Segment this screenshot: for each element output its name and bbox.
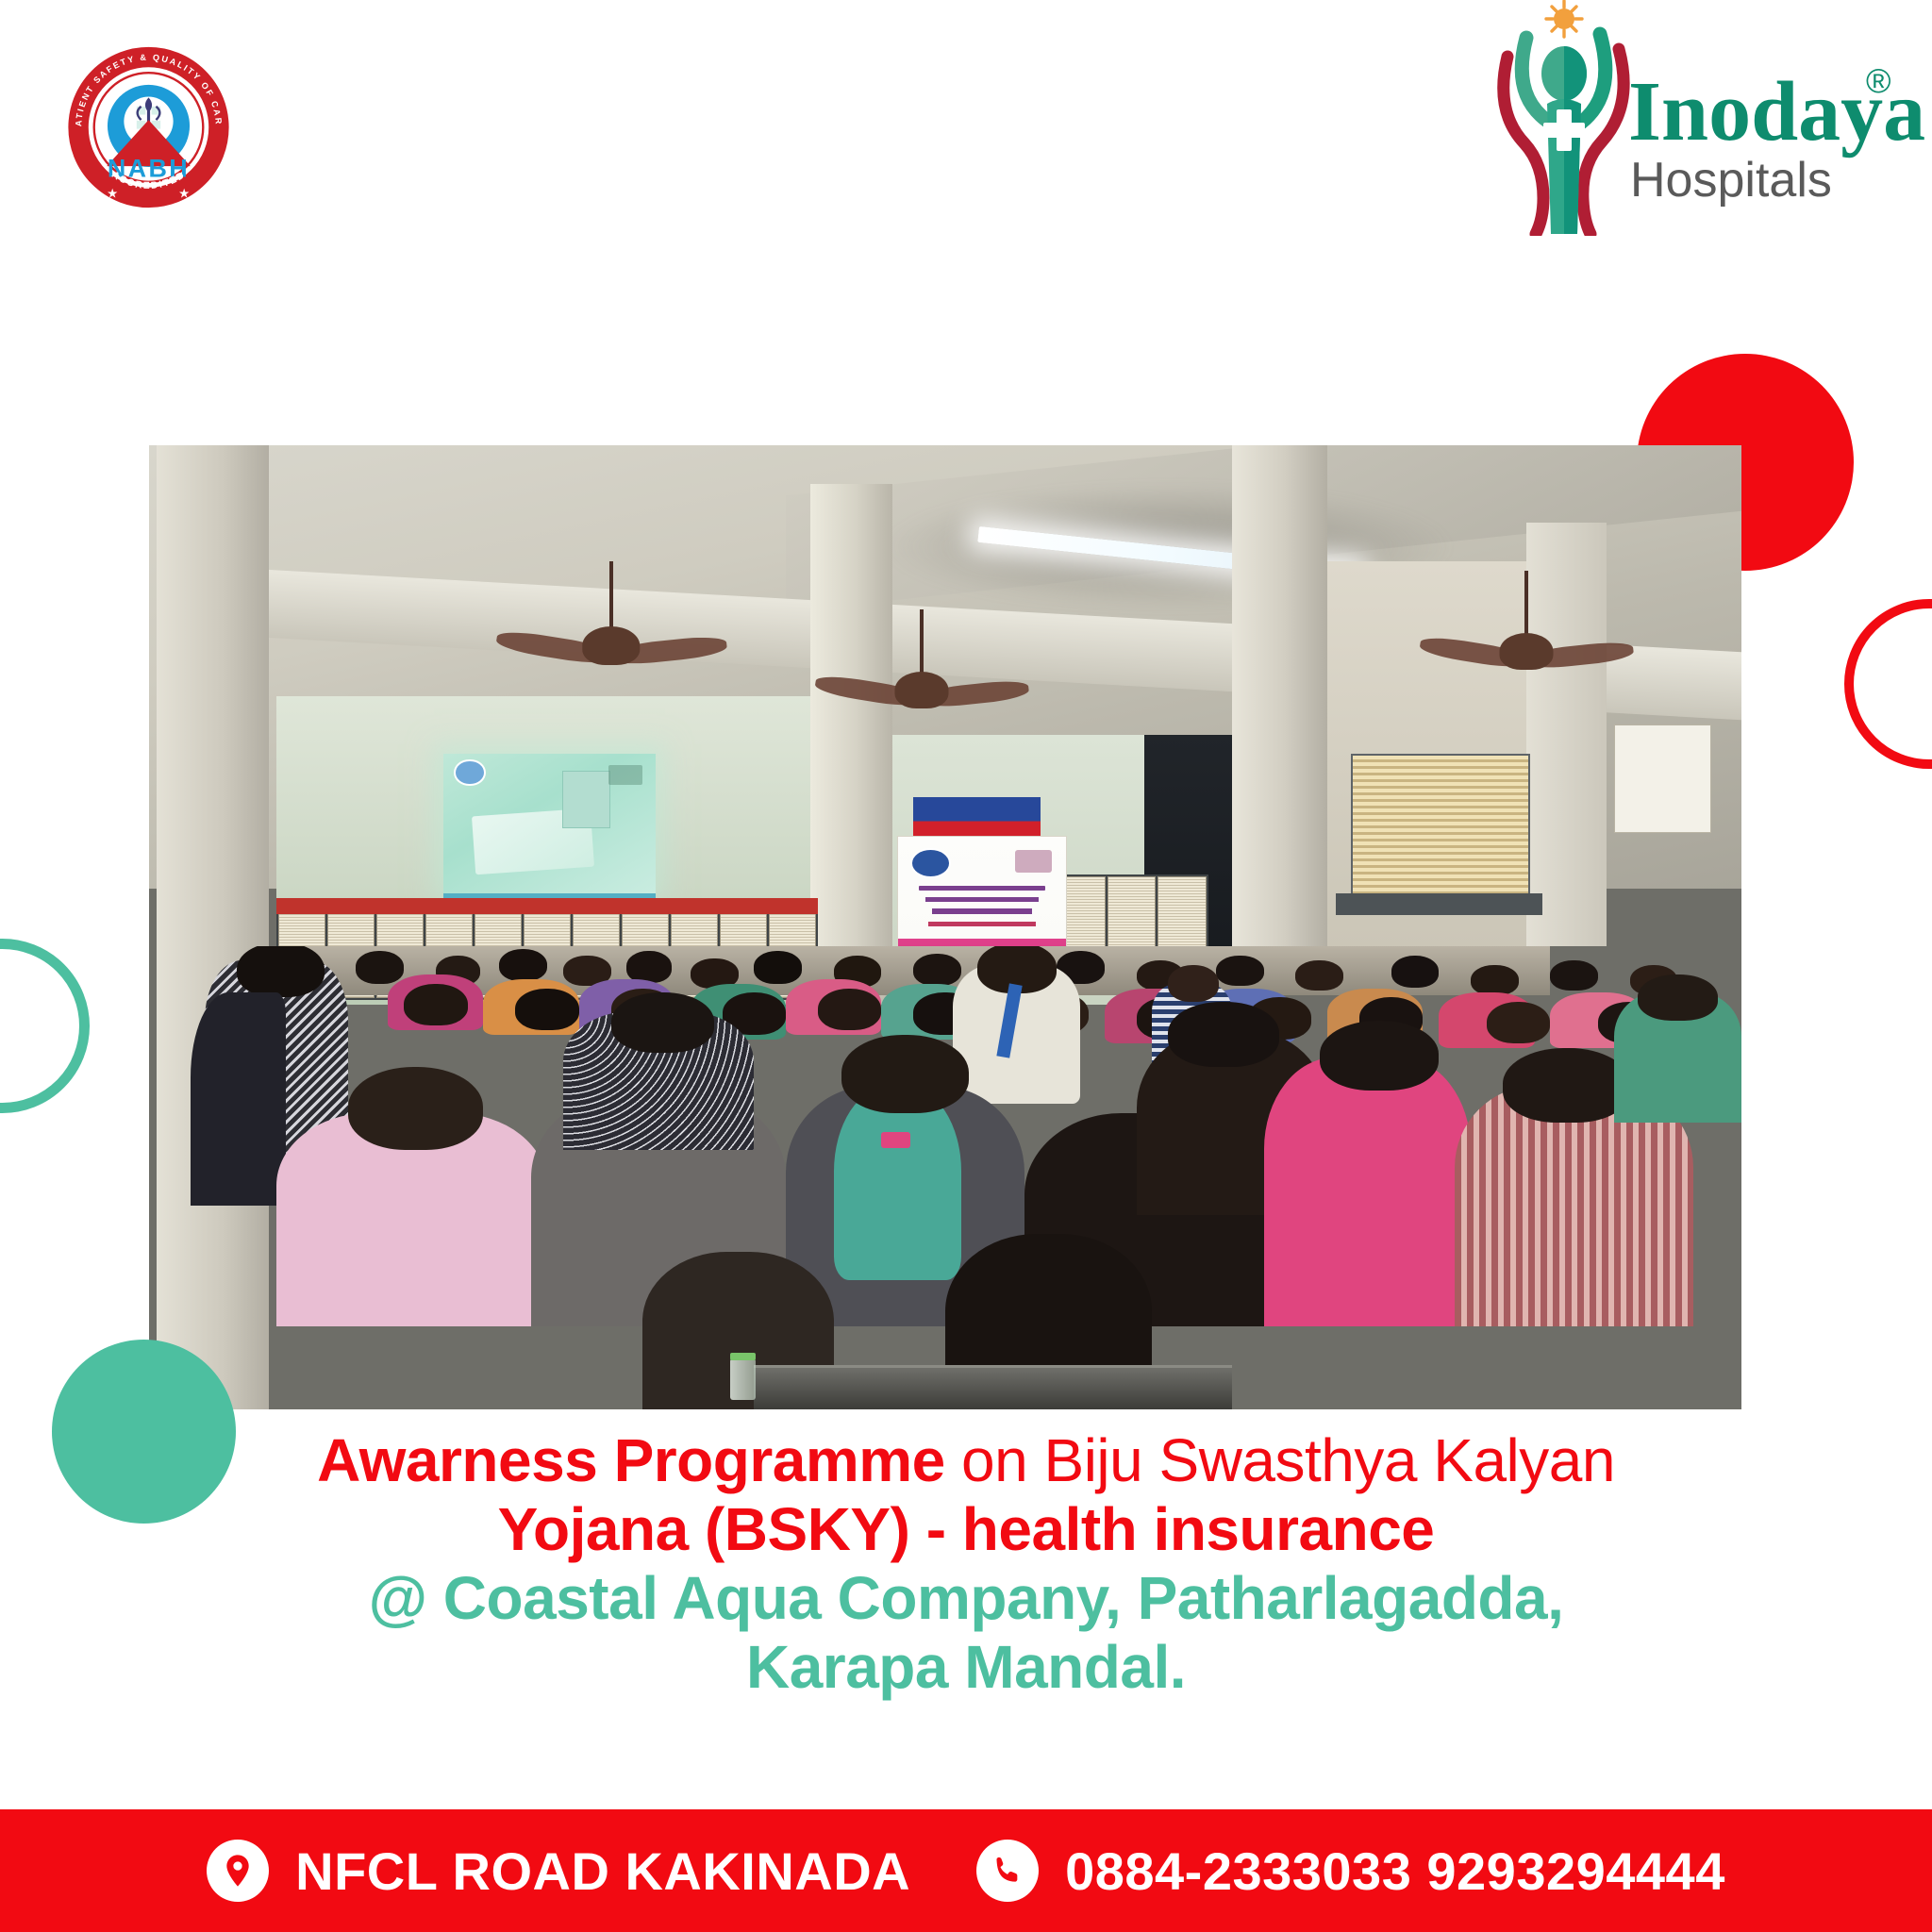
- inodaya-hospitals-logo: Inodaya ® Hospitals: [1453, 0, 1924, 236]
- address-text: NFCL ROAD KAKINADA: [295, 1840, 910, 1902]
- projected-screen: [443, 754, 656, 893]
- address-item: NFCL ROAD KAKINADA: [207, 1840, 910, 1902]
- ceiling-fan-icon: [818, 609, 1024, 792]
- water-bottle: [730, 1358, 756, 1400]
- ceiling-fan-icon: [1423, 571, 1629, 754]
- audience-crowd: [149, 946, 1741, 1409]
- phone-item: 0884-2333033 9293294444: [976, 1840, 1725, 1902]
- foreground-table: [754, 1365, 1231, 1409]
- location-pin-icon: [207, 1840, 269, 1902]
- caption-line-3: @ Coastal Aqua Company, Patharlagadda,: [0, 1564, 1932, 1633]
- caption-line-1: Awarness Programme on Biju Swasthya Kaly…: [0, 1426, 1932, 1495]
- logo-registered-mark: ®: [1866, 61, 1891, 100]
- caption-line-1-rest: on Biju Swasthya Kalyan: [945, 1426, 1615, 1494]
- caption-line-4: Karapa Mandal.: [0, 1633, 1932, 1702]
- logo-subtitle: Hospitals: [1630, 153, 1832, 208]
- nabh-star-left-icon: ★: [107, 186, 118, 200]
- promotional-poster: NABH PATIENT SAFETY & QUALITY OF CARE AC…: [0, 0, 1932, 1932]
- ceiling-fan-icon: [499, 561, 722, 754]
- hair-clip: [881, 1132, 909, 1148]
- phone-icon: [976, 1840, 1039, 1902]
- contact-footer-bar: NFCL ROAD KAKINADA 0884-2333033 92932944…: [0, 1809, 1932, 1932]
- caption-line-2: Yojana (BSKY) - health insurance: [0, 1495, 1932, 1564]
- hall-window: [1351, 754, 1530, 902]
- decorative-red-outline-circle: [1844, 599, 1932, 769]
- decorative-teal-outline-circle: [0, 939, 90, 1113]
- caption-programme-title: Awarness Programme: [317, 1426, 945, 1494]
- phone-text: 0884-2333033 9293294444: [1065, 1840, 1725, 1902]
- event-caption: Awarness Programme on Biju Swasthya Kaly…: [0, 1426, 1932, 1702]
- event-photo: [149, 445, 1741, 1409]
- nabh-star-right-icon: ★: [178, 186, 190, 200]
- nabh-accreditation-logo: NABH PATIENT SAFETY & QUALITY OF CARE AC…: [42, 38, 255, 217]
